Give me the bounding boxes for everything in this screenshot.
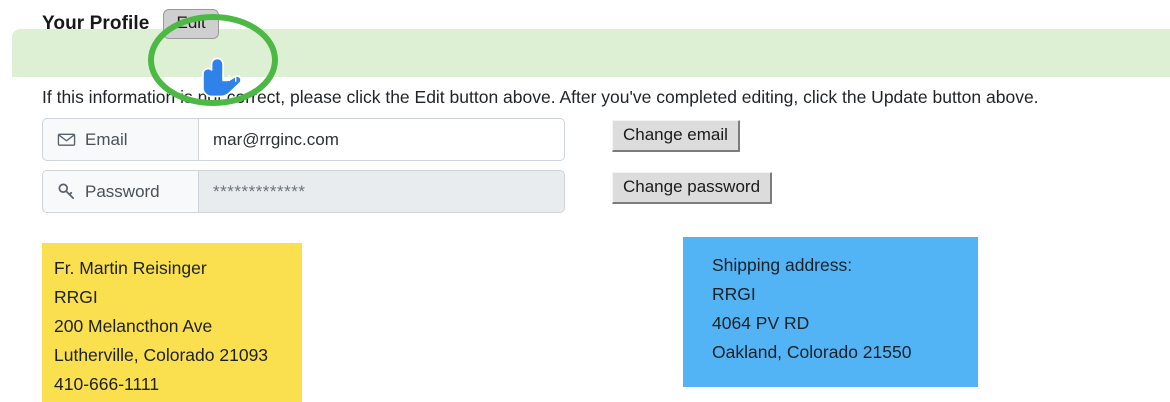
email-label-text: Email [85, 130, 128, 150]
page-title: Your Profile [42, 13, 149, 35]
edit-button[interactable]: Edit [163, 9, 218, 39]
password-field-row: Password ************* [42, 170, 565, 213]
shipping-address-line: 4064 PV RD [712, 309, 978, 338]
password-label-addon: Password [42, 170, 198, 213]
shipping-address-line: Oakland, Colorado 21550 [712, 338, 978, 367]
billing-address-line: 410-666-1111 [54, 370, 302, 399]
instruction-text: If this information is not correct, plea… [42, 86, 1162, 109]
envelope-icon [57, 130, 76, 149]
shipping-address-heading: Shipping address: [712, 251, 978, 280]
key-icon [57, 182, 76, 201]
billing-address-line: Fr. Martin Reisinger [54, 254, 302, 283]
billing-address-line: Lutherville, Colorado 21093 [54, 341, 302, 370]
email-input[interactable]: mar@rrginc.com [198, 118, 565, 161]
billing-address-line: RRGI [54, 283, 302, 312]
profile-panel: Your Profile Edit If this information is… [12, 0, 1170, 402]
change-email-button[interactable]: Change email [612, 120, 740, 152]
shipping-address-line: RRGI [712, 280, 978, 309]
change-password-button[interactable]: Change password [612, 172, 772, 204]
password-input-group: Password ************* [42, 170, 565, 213]
email-input-group: Email mar@rrginc.com [42, 118, 565, 161]
billing-address-box: Fr. Martin Reisinger RRGI 200 Melancthon… [42, 243, 302, 402]
password-input[interactable]: ************* [198, 170, 565, 213]
email-field-row: Email mar@rrginc.com [42, 118, 565, 161]
profile-header-content: Your Profile Edit [42, 0, 219, 48]
email-label-addon: Email [42, 118, 198, 161]
shipping-address-box: Shipping address: RRGI 4064 PV RD Oaklan… [683, 237, 978, 387]
password-label-text: Password [85, 182, 160, 202]
billing-address-line: 200 Melancthon Ave [54, 312, 302, 341]
